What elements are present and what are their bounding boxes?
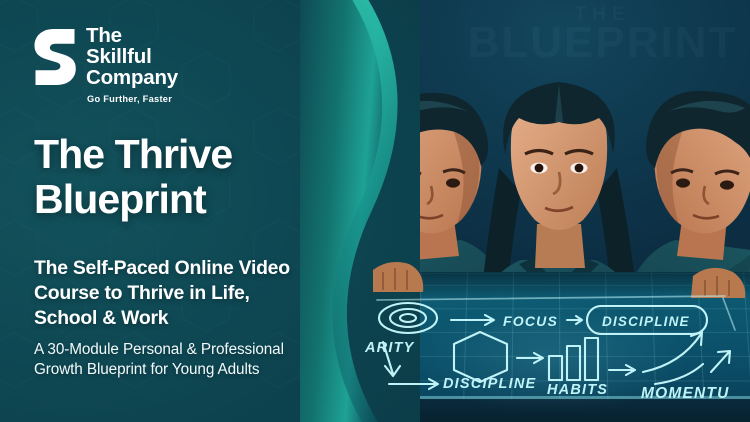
blueprint-label-discipline-top: DISCIPLINE (602, 314, 690, 329)
brand-wordmark: The Skillful Company Go Further, Faster (86, 24, 178, 104)
brand-name-line-3: Company (86, 67, 178, 88)
page-subtitle-line-2: Course to Thrive in Life, (34, 281, 364, 306)
page-description-line-2: Growth Blueprint for Young Adults (34, 360, 374, 380)
page-description: A 30-Module Personal & Professional Grow… (34, 340, 374, 381)
rising-arrow-icon (643, 332, 730, 384)
page-subtitle-line-3: School & Work (34, 306, 364, 331)
page-subtitle-line-1: The Self-Paced Online Video (34, 256, 364, 281)
brand-name-line-1: The (86, 25, 178, 46)
hexagon-icon (454, 332, 507, 382)
brand-tagline: Go Further, Faster (87, 94, 178, 104)
page-description-line-1: A 30-Module Personal & Professional (34, 340, 374, 360)
hero-illustration: THE BLUEPRINT (355, 0, 750, 422)
blueprint-label-focus: FOCUS (503, 313, 558, 329)
blueprint-label-clarity: ARITY (364, 340, 415, 356)
blueprint-label-momentum: MOMENTU (641, 385, 729, 402)
ascending-bars-icon (549, 338, 598, 380)
blueprint-diagram: ARITY FOCUS DISCIPLINE DISCIPLINE (355, 0, 750, 422)
panel-content: The Skillful Company Go Further, Faster … (0, 0, 372, 422)
brand-name-line-2: Skillful (86, 46, 178, 67)
page-subtitle: The Self-Paced Online Video Course to Th… (34, 256, 364, 331)
brand-logo[interactable]: The Skillful Company Go Further, Faster (33, 24, 178, 104)
concentric-target-icon (379, 303, 437, 333)
blueprint-label-habits: HABITS (547, 382, 608, 398)
page-title-line-1: The Thrive (34, 132, 364, 177)
page-title-line-2: Blueprint (34, 177, 364, 222)
page-title: The Thrive Blueprint (34, 132, 364, 221)
blueprint-label-discipline: DISCIPLINE (443, 376, 536, 392)
promo-banner: THE BLUEPRINT (0, 0, 750, 422)
skillful-s-mark-icon (33, 29, 77, 85)
